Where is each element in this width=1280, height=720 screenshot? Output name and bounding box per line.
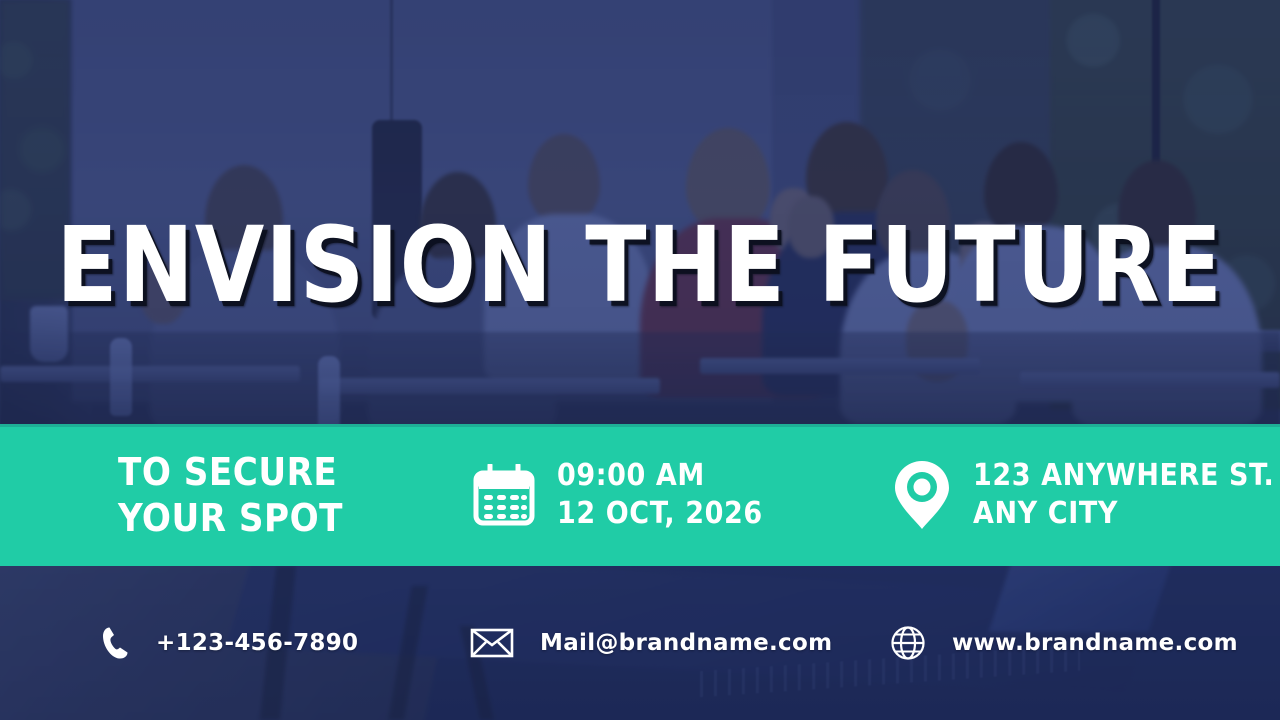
phone-icon — [100, 626, 130, 660]
event-date: 12 OCT, 2026 — [557, 495, 763, 533]
date-block: 09:00 AM 12 OCT, 2026 — [473, 457, 893, 534]
headline-wrapper: ENVISION THE FUTURE — [0, 212, 1280, 318]
cta-line-2: YOUR SPOT — [118, 495, 473, 541]
calendar-icon — [473, 464, 535, 526]
contact-email[interactable]: Mail@brandname.com — [470, 627, 890, 659]
event-time: 09:00 AM — [557, 457, 763, 495]
location-block: 123 ANYWHERE ST. ANY CITY — [893, 457, 1274, 534]
phone-number: +123-456-7890 — [156, 630, 358, 656]
page-title: ENVISION THE FUTURE — [57, 212, 1224, 318]
email-address: Mail@brandname.com — [540, 630, 832, 656]
contact-phone[interactable]: +123-456-7890 — [100, 626, 470, 660]
map-pin-icon — [893, 459, 951, 531]
event-poster: ENVISION THE FUTURE TO SECURE YOUR SPOT — [0, 0, 1280, 720]
cta-text: TO SECURE YOUR SPOT — [118, 449, 473, 542]
location-text: 123 ANYWHERE ST. ANY CITY — [973, 457, 1274, 534]
contact-footer: +123-456-7890 Mail@brandname.com www.bra… — [0, 566, 1280, 720]
info-banner: TO SECURE YOUR SPOT — [0, 424, 1280, 566]
website-url: www.brandname.com — [952, 630, 1238, 656]
envelope-icon — [470, 627, 514, 659]
cta-line-1: TO SECURE — [118, 449, 473, 495]
contact-website[interactable]: www.brandname.com — [890, 625, 1238, 661]
globe-icon — [890, 625, 926, 661]
address-line-1: 123 ANYWHERE ST. — [973, 457, 1274, 495]
info-banner-inner: TO SECURE YOUR SPOT — [0, 449, 1280, 542]
address-line-2: ANY CITY — [973, 495, 1274, 533]
date-text: 09:00 AM 12 OCT, 2026 — [557, 457, 763, 534]
